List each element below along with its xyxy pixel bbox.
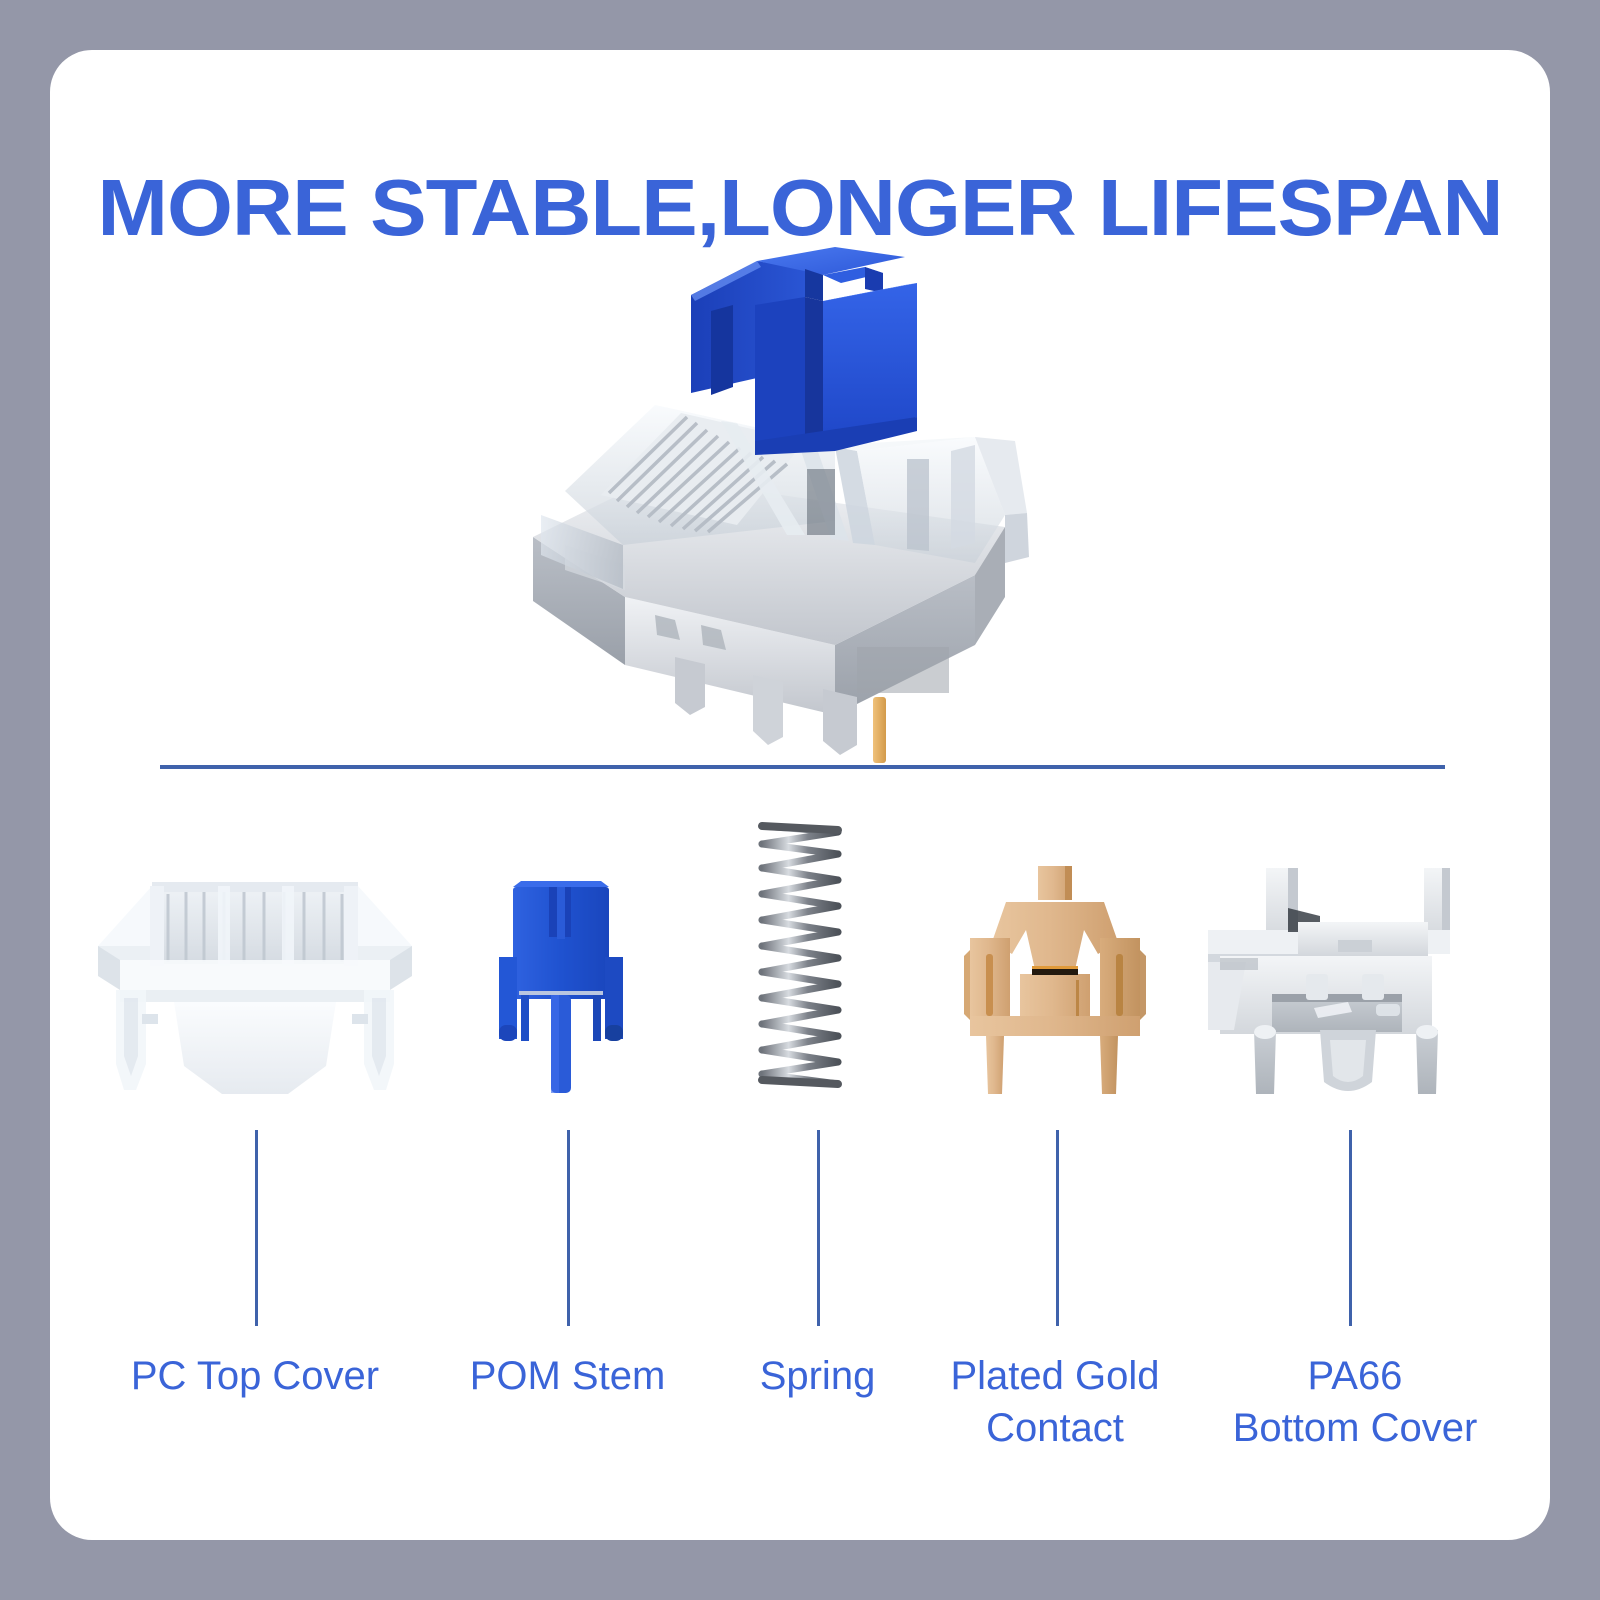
- part-plated-gold-contact: [950, 850, 1160, 1100]
- label-spring: Spring: [720, 1350, 915, 1402]
- exploded-parts-row: [50, 810, 1550, 1100]
- hero-switch-image: [505, 245, 1065, 765]
- label-pa66-bottom-cover: PA66 Bottom Cover: [1195, 1350, 1515, 1454]
- leader-line-pa66-bottom-cover: [1349, 1130, 1352, 1326]
- leader-line-spring: [817, 1130, 820, 1326]
- label-pc-top-cover: PC Top Cover: [105, 1350, 405, 1402]
- product-info-card: MORE STABLE,LONGER LIFESPAN: [50, 50, 1550, 1540]
- leader-line-pom-stem: [567, 1130, 570, 1326]
- part-spring: [740, 810, 860, 1100]
- part-pc-top-cover: [90, 850, 420, 1100]
- section-divider: [160, 765, 1445, 769]
- label-pom-stem: POM Stem: [450, 1350, 685, 1402]
- leader-line-pc-top-cover: [255, 1130, 258, 1326]
- page-title: MORE STABLE,LONGER LIFESPAN: [5, 162, 1595, 254]
- part-pa66-bottom-cover: [1180, 850, 1450, 1100]
- part-pom-stem: [465, 845, 655, 1100]
- leader-line-plated-gold-contact: [1056, 1130, 1059, 1326]
- label-plated-gold-contact: Plated Gold Contact: [905, 1350, 1205, 1454]
